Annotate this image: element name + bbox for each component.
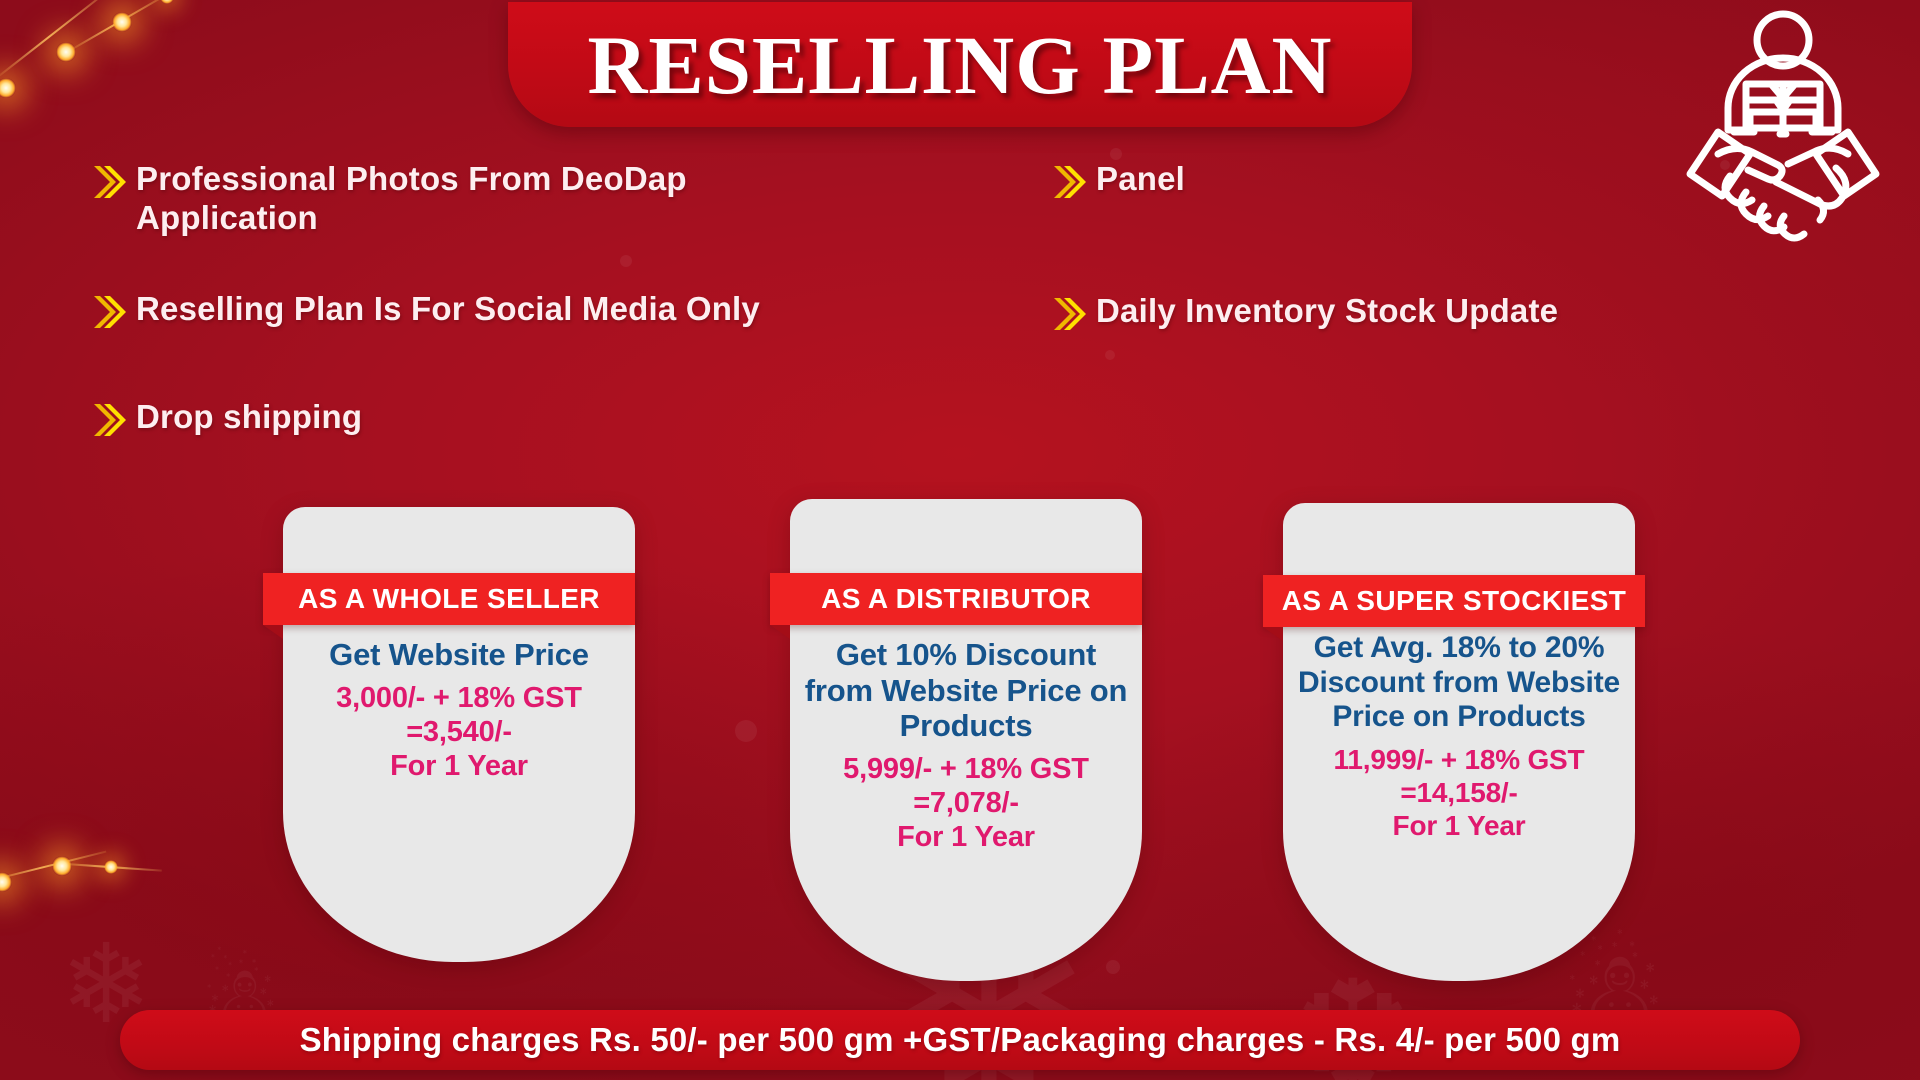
plan-body: Get Avg. 18% to 20% Discount from Websit…: [1283, 631, 1635, 842]
plan-pricing: 11,999/- + 18% GST=14,158/-For 1 Year: [1297, 743, 1621, 842]
double-chevron-right-icon: [92, 294, 126, 335]
plan-headline: Get 10% Discount from Website Price on P…: [804, 637, 1128, 744]
feature-item-professional-photos: Professional Photos From DeoDap Applicat…: [92, 160, 852, 238]
plan-pricing: 3,000/- + 18% GST=3,540/-For 1 Year: [297, 681, 621, 784]
shipping-charges-banner: Shipping charges Rs. 50/- per 500 gm +GS…: [120, 1010, 1800, 1070]
page-title: RESELLING PLAN: [587, 17, 1332, 113]
plan-card-group: AS A WHOLE SELLER Get Website Price 3,00…: [0, 497, 1920, 967]
plan-ribbon-label: AS A WHOLE SELLER: [282, 583, 616, 615]
double-chevron-right-icon: [92, 164, 126, 205]
double-chevron-right-icon: [1052, 296, 1086, 337]
feature-label: Panel: [1096, 160, 1185, 199]
double-chevron-right-icon: [1052, 164, 1086, 205]
plan-ribbon: AS A SUPER STOCKIEST: [1263, 575, 1645, 627]
plan-card-distributor[interactable]: AS A DISTRIBUTOR Get 10% Discount from W…: [790, 499, 1142, 981]
feature-label: Professional Photos From DeoDap Applicat…: [136, 160, 852, 238]
feature-item-panel: Panel: [1052, 160, 1472, 205]
plan-body: Get 10% Discount from Website Price on P…: [790, 637, 1142, 855]
plan-card-whole-seller[interactable]: AS A WHOLE SELLER Get Website Price 3,00…: [283, 507, 635, 962]
feature-label: Drop shipping: [136, 398, 362, 437]
plan-headline: Get Website Price: [297, 637, 621, 673]
plan-ribbon: AS A WHOLE SELLER: [263, 573, 635, 625]
plan-ribbon-label: AS A SUPER STOCKIEST: [1266, 585, 1643, 617]
feature-list: Professional Photos From DeoDap Applicat…: [0, 150, 1780, 430]
plan-card-super-stockiest[interactable]: AS A SUPER STOCKIEST Get Avg. 18% to 20%…: [1283, 503, 1635, 981]
feature-label: Reselling Plan Is For Social Media Only: [136, 290, 760, 329]
page-title-bar: RESELLING PLAN: [508, 2, 1412, 127]
feature-item-drop-shipping: Drop shipping: [92, 398, 712, 443]
feature-item-daily-inventory: Daily Inventory Stock Update: [1052, 292, 1752, 337]
plan-ribbon-label: AS A DISTRIBUTOR: [805, 583, 1107, 615]
feature-item-social-media-only: Reselling Plan Is For Social Media Only: [92, 290, 992, 335]
double-chevron-right-icon: [92, 402, 126, 443]
feature-label: Daily Inventory Stock Update: [1096, 292, 1558, 331]
plan-pricing: 5,999/- + 18% GST=7,078/-For 1 Year: [804, 752, 1128, 855]
plan-ribbon: AS A DISTRIBUTOR: [770, 573, 1142, 625]
plan-body: Get Website Price 3,000/- + 18% GST=3,54…: [283, 637, 635, 783]
plan-headline: Get Avg. 18% to 20% Discount from Websit…: [1297, 631, 1621, 735]
shipping-charges-text: Shipping charges Rs. 50/- per 500 gm +GS…: [300, 1021, 1621, 1059]
